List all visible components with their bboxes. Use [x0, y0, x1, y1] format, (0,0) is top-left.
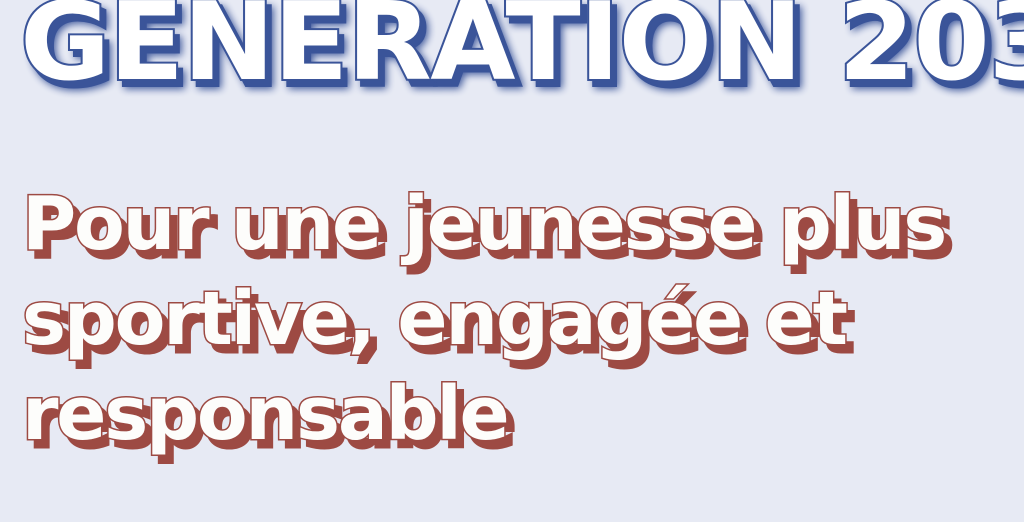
subtitle-line-1: Pour une jeunesse plus — [22, 178, 945, 270]
subtitle-line-3: responsable — [22, 368, 508, 460]
subtitle-line: responsable responsable — [22, 368, 1002, 463]
page-title: GÉNÉRATION 2030 — [20, 0, 1024, 108]
subtitle-line: sportive, engagée et sportive, engagée e… — [22, 273, 1002, 368]
subtitle-line: Pour une jeunesse plus Pour une jeunesse… — [22, 178, 1002, 273]
title-block: GÉNÉRATION 2030 GÉNÉRATION 2030 GÉNÉRATI… — [0, 0, 1024, 128]
subtitle-block: Pour une jeunesse plus Pour une jeunesse… — [22, 178, 1002, 463]
poster-slide: GÉNÉRATION 2030 GÉNÉRATION 2030 GÉNÉRATI… — [0, 0, 1024, 522]
subtitle-line-2: sportive, engagée et — [22, 273, 846, 365]
